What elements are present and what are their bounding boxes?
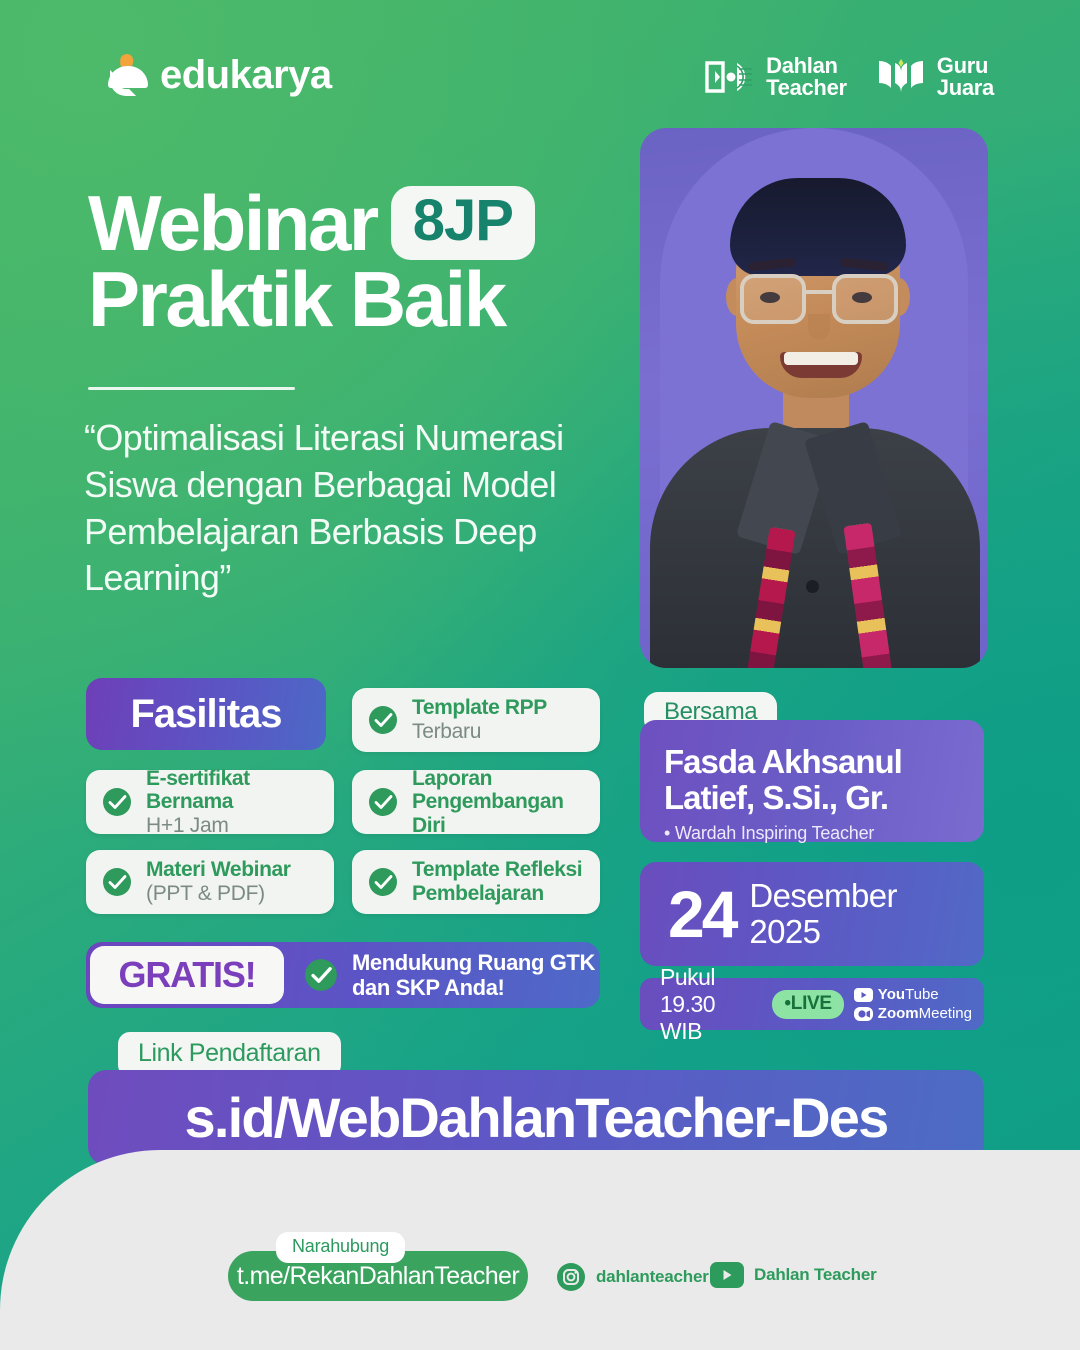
check-circle-icon: [368, 787, 398, 817]
contact-label-badge: Narahubung: [276, 1232, 405, 1263]
instagram-icon: [556, 1262, 586, 1292]
brand-name: edukarya: [160, 53, 332, 98]
facility-title: E-sertifikat Bernama: [146, 767, 318, 814]
speaker-credential: • Wardah Inspiring Teacher: [664, 823, 960, 844]
speaker-name-line1: Fasda Akhsanul: [664, 744, 960, 780]
facility-card: Template RPP Terbaru: [352, 688, 600, 752]
speaker-name-line2: Latief, S.Si., Gr.: [664, 780, 960, 816]
webinar-theme-quote: “Optimalisasi Literasi Numerasi Siswa de…: [84, 415, 644, 602]
footer-panel: [0, 1150, 1080, 1350]
partner-guru-juara: Guru Juara: [875, 55, 994, 100]
facility-sub: Pengembangan Diri: [412, 790, 584, 837]
event-time-card: Pukul 19.30 WIB •LIVE YouTube ZoomMeetin…: [640, 978, 984, 1030]
platform2-bold: Zoom: [878, 1005, 919, 1022]
live-badge: •LIVE: [772, 990, 843, 1019]
youtube-social[interactable]: Dahlan Teacher: [710, 1262, 877, 1288]
platform2-light: Meeting: [919, 1005, 972, 1022]
facility-card: Laporan Pengembangan Diri: [352, 770, 600, 834]
telegram-handle[interactable]: t.me/RekanDahlanTeacher: [237, 1262, 519, 1291]
facility-title: Laporan: [412, 767, 584, 791]
event-month: Desember: [749, 878, 896, 914]
edukarya-flame-icon: [108, 52, 154, 98]
jp-badge: 8JP: [391, 186, 535, 260]
event-date-card: 24 Desember 2025: [640, 862, 984, 966]
gratis-note-line1: Mendukung Ruang GTK: [352, 950, 595, 975]
check-circle-icon: [102, 867, 132, 897]
platform-list: YouTube ZoomMeeting: [854, 986, 972, 1022]
facility-card: Template Refleksi Pembelajaran: [352, 850, 600, 914]
platform1-bold: You: [878, 986, 905, 1003]
youtube-icon: [854, 988, 873, 1002]
instagram-handle[interactable]: dahlanteacher: [596, 1267, 709, 1287]
youtube-icon: [710, 1262, 744, 1288]
facility-sub: (PPT & PDF): [146, 882, 291, 906]
facility-card: Materi Webinar (PPT & PDF): [86, 850, 334, 914]
fasilitas-heading: Fasilitas: [86, 678, 326, 750]
platform1-light: Tube: [905, 986, 939, 1003]
edukarya-brand: edukarya: [108, 52, 332, 98]
gratis-badge: GRATIS!: [90, 946, 284, 1004]
partner-guru-label: Guru Juara: [937, 55, 994, 100]
title-block: Webinar 8JP Praktik Baik: [88, 185, 628, 338]
speaker-card: Fasda Akhsanul Latief, S.Si., Gr. • Ward…: [640, 720, 984, 842]
event-time: Pukul 19.30 WIB: [660, 964, 762, 1045]
facility-card: E-sertifikat Bernama H+1 Jam: [86, 770, 334, 834]
instagram-social[interactable]: dahlanteacher: [556, 1262, 709, 1292]
title-line1: Webinar: [88, 185, 377, 261]
gratis-note: Mendukung Ruang GTK dan SKP Anda!: [304, 950, 595, 1000]
facility-sub: H+1 Jam: [146, 814, 318, 838]
facility-title: Template RPP: [412, 696, 547, 720]
gratis-row: GRATIS! Mendukung Ruang GTK dan SKP Anda…: [86, 942, 600, 1008]
youtube-handle[interactable]: Dahlan Teacher: [754, 1265, 877, 1285]
dahlan-teacher-logo-icon: [704, 57, 756, 97]
speaker-photo: [640, 128, 988, 668]
platform-zoom: ZoomMeeting: [854, 1005, 972, 1022]
check-circle-icon: [368, 867, 398, 897]
event-year: 2025: [749, 914, 896, 950]
facility-sub: Terbaru: [412, 720, 547, 744]
check-circle-icon: [304, 958, 338, 992]
partner-logos: Dahlan Teacher Guru Juara: [704, 55, 994, 100]
partner-dahlan-label: Dahlan Teacher: [766, 55, 847, 100]
facility-sub: Pembelajaran: [412, 882, 582, 906]
facility-title: Template Refleksi: [412, 858, 582, 882]
guru-juara-logo-icon: [875, 57, 927, 97]
platform-youtube: YouTube: [854, 986, 972, 1003]
event-day: 24: [668, 881, 735, 947]
zoom-icon: [854, 1007, 873, 1021]
title-line2: Praktik Baik: [88, 261, 628, 337]
title-divider: [88, 387, 295, 390]
check-circle-icon: [102, 787, 132, 817]
webinar-poster: edukarya Dahlan Teacher: [0, 0, 1080, 1350]
gratis-note-line2: dan SKP Anda!: [352, 975, 595, 1000]
registration-url[interactable]: s.id/WebDahlanTeacher-Des: [185, 1085, 888, 1150]
facility-title: Materi Webinar: [146, 858, 291, 882]
partner-dahlan-teacher: Dahlan Teacher: [704, 55, 847, 100]
check-circle-icon: [368, 705, 398, 735]
